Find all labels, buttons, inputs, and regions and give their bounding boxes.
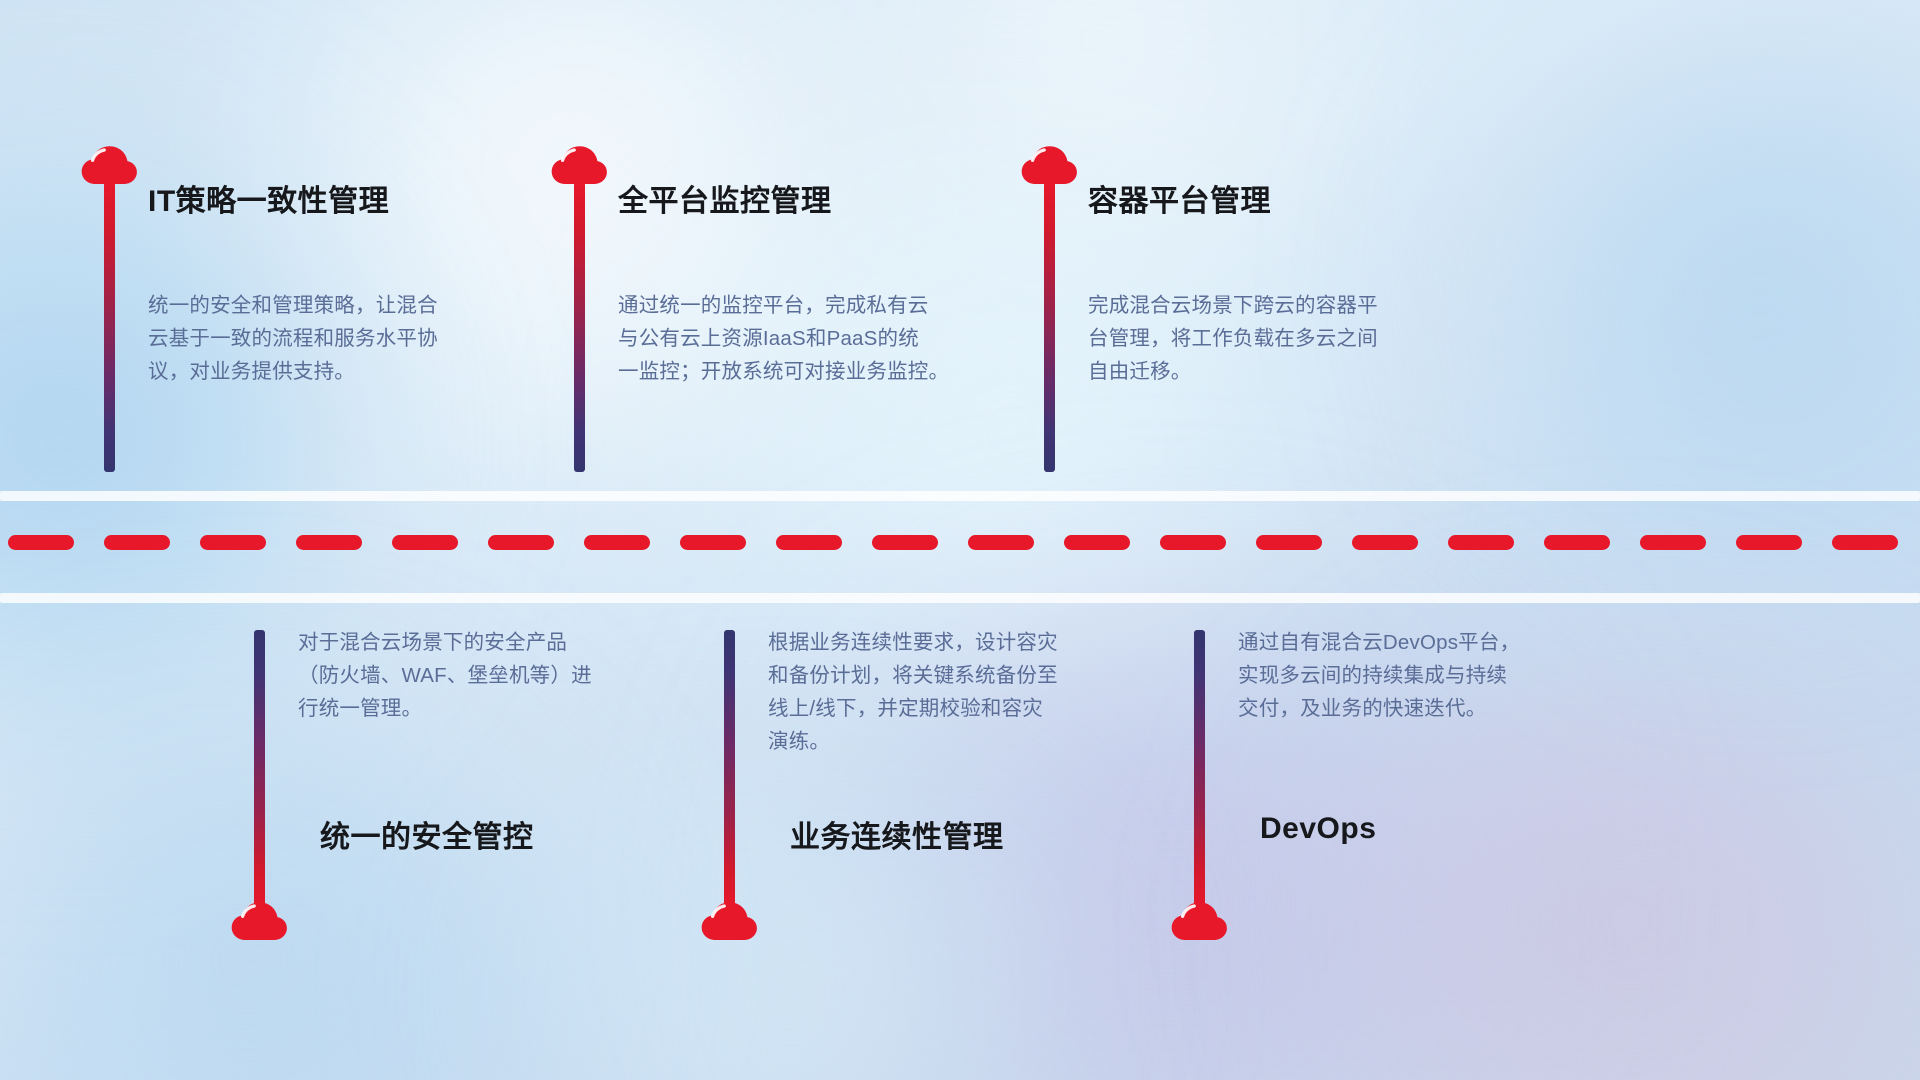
cloud-icon [1168, 898, 1230, 942]
divider-dash [1832, 535, 1898, 550]
divider-dash [104, 535, 170, 550]
body-line: 统一的安全和管理策略，让混合 [148, 289, 518, 322]
infographic-canvas: IT策略一致性管理 统一的安全和管理策略，让混合 云基于一致的流程和服务水平协 … [0, 0, 1920, 1080]
divider-dash [8, 535, 74, 550]
body-line: 自由迁移。 [1088, 355, 1458, 388]
dashed-road-line [0, 534, 1920, 550]
cloud-icon [78, 142, 140, 186]
divider-dash [296, 535, 362, 550]
divider-dash [776, 535, 842, 550]
cloud-icon [228, 898, 290, 942]
bottom-column-3-title: DevOps [1260, 812, 1376, 846]
divider-dash [584, 535, 650, 550]
top-column-3-title: 容器平台管理 [1088, 176, 1271, 220]
body-line: 完成混合云场景下跨云的容器平 [1088, 289, 1458, 322]
top-column-2-body: 通过统一的监控平台，完成私有云 与公有云上资源IaaS和PaaS的统 一监控；开… [618, 289, 1018, 388]
body-line: 根据业务连续性要求，设计容灾 [768, 626, 1138, 659]
cloud-icon [1018, 142, 1080, 186]
connector-line [574, 182, 585, 472]
body-line: 云基于一致的流程和服务水平协 [148, 322, 518, 355]
body-line: 通过统一的监控平台，完成私有云 [618, 289, 1018, 322]
connector-line [1044, 182, 1055, 472]
body-line: 行统一管理。 [298, 692, 668, 725]
connector-line [254, 630, 265, 910]
connector-line [1194, 630, 1205, 910]
bottom-column-1-body: 对于混合云场景下的安全产品 （防火墙、WAF、堡垒机等）进 行统一管理。 [298, 626, 668, 725]
body-line: 通过自有混合云DevOps平台， [1238, 626, 1608, 659]
body-line: 线上/线下，并定期校验和容灾 [768, 692, 1138, 725]
cloud-icon [548, 142, 610, 186]
divider-dash [1448, 535, 1514, 550]
body-line: 演练。 [768, 725, 1138, 758]
bottom-column-1-title: 统一的安全管控 [320, 812, 534, 856]
divider-dash [1064, 535, 1130, 550]
divider-dash [488, 535, 554, 550]
body-line: 一监控；开放系统可对接业务监控。 [618, 355, 1018, 388]
body-line: 实现多云间的持续集成与持续 [1238, 659, 1608, 692]
body-line: （防火墙、WAF、堡垒机等）进 [298, 659, 668, 692]
connector-line [724, 630, 735, 910]
divider-dash [1736, 535, 1802, 550]
divider-dash [392, 535, 458, 550]
connector-line [104, 182, 115, 472]
divider-dash [200, 535, 266, 550]
top-column-1-title: IT策略一致性管理 [148, 176, 389, 220]
divider-dash [1640, 535, 1706, 550]
cloud-icon [698, 898, 760, 942]
body-line: 与公有云上资源IaaS和PaaS的统 [618, 322, 1018, 355]
body-line: 对于混合云场景下的安全产品 [298, 626, 668, 659]
body-line: 台管理，将工作负载在多云之间 [1088, 322, 1458, 355]
divider-dash [1544, 535, 1610, 550]
divider-dash [680, 535, 746, 550]
divider-dash [872, 535, 938, 550]
bottom-column-2-body: 根据业务连续性要求，设计容灾 和备份计划，将关键系统备份至 线上/线下，并定期校… [768, 626, 1138, 758]
top-column-2-title: 全平台监控管理 [618, 176, 832, 220]
divider-rule-bottom [0, 593, 1920, 603]
divider-dash [968, 535, 1034, 550]
top-column-1-body: 统一的安全和管理策略，让混合 云基于一致的流程和服务水平协 议，对业务提供支持。 [148, 289, 518, 388]
body-line: 议，对业务提供支持。 [148, 355, 518, 388]
body-line: 交付，及业务的快速迭代。 [1238, 692, 1608, 725]
divider-dash [1160, 535, 1226, 550]
divider-dash [1352, 535, 1418, 550]
body-line: 和备份计划，将关键系统备份至 [768, 659, 1138, 692]
divider-dash [1256, 535, 1322, 550]
bottom-column-3-body: 通过自有混合云DevOps平台， 实现多云间的持续集成与持续 交付，及业务的快速… [1238, 626, 1608, 725]
divider-rule-top [0, 491, 1920, 501]
top-column-3-body: 完成混合云场景下跨云的容器平 台管理，将工作负载在多云之间 自由迁移。 [1088, 289, 1458, 388]
bottom-column-2-title: 业务连续性管理 [790, 812, 1004, 856]
